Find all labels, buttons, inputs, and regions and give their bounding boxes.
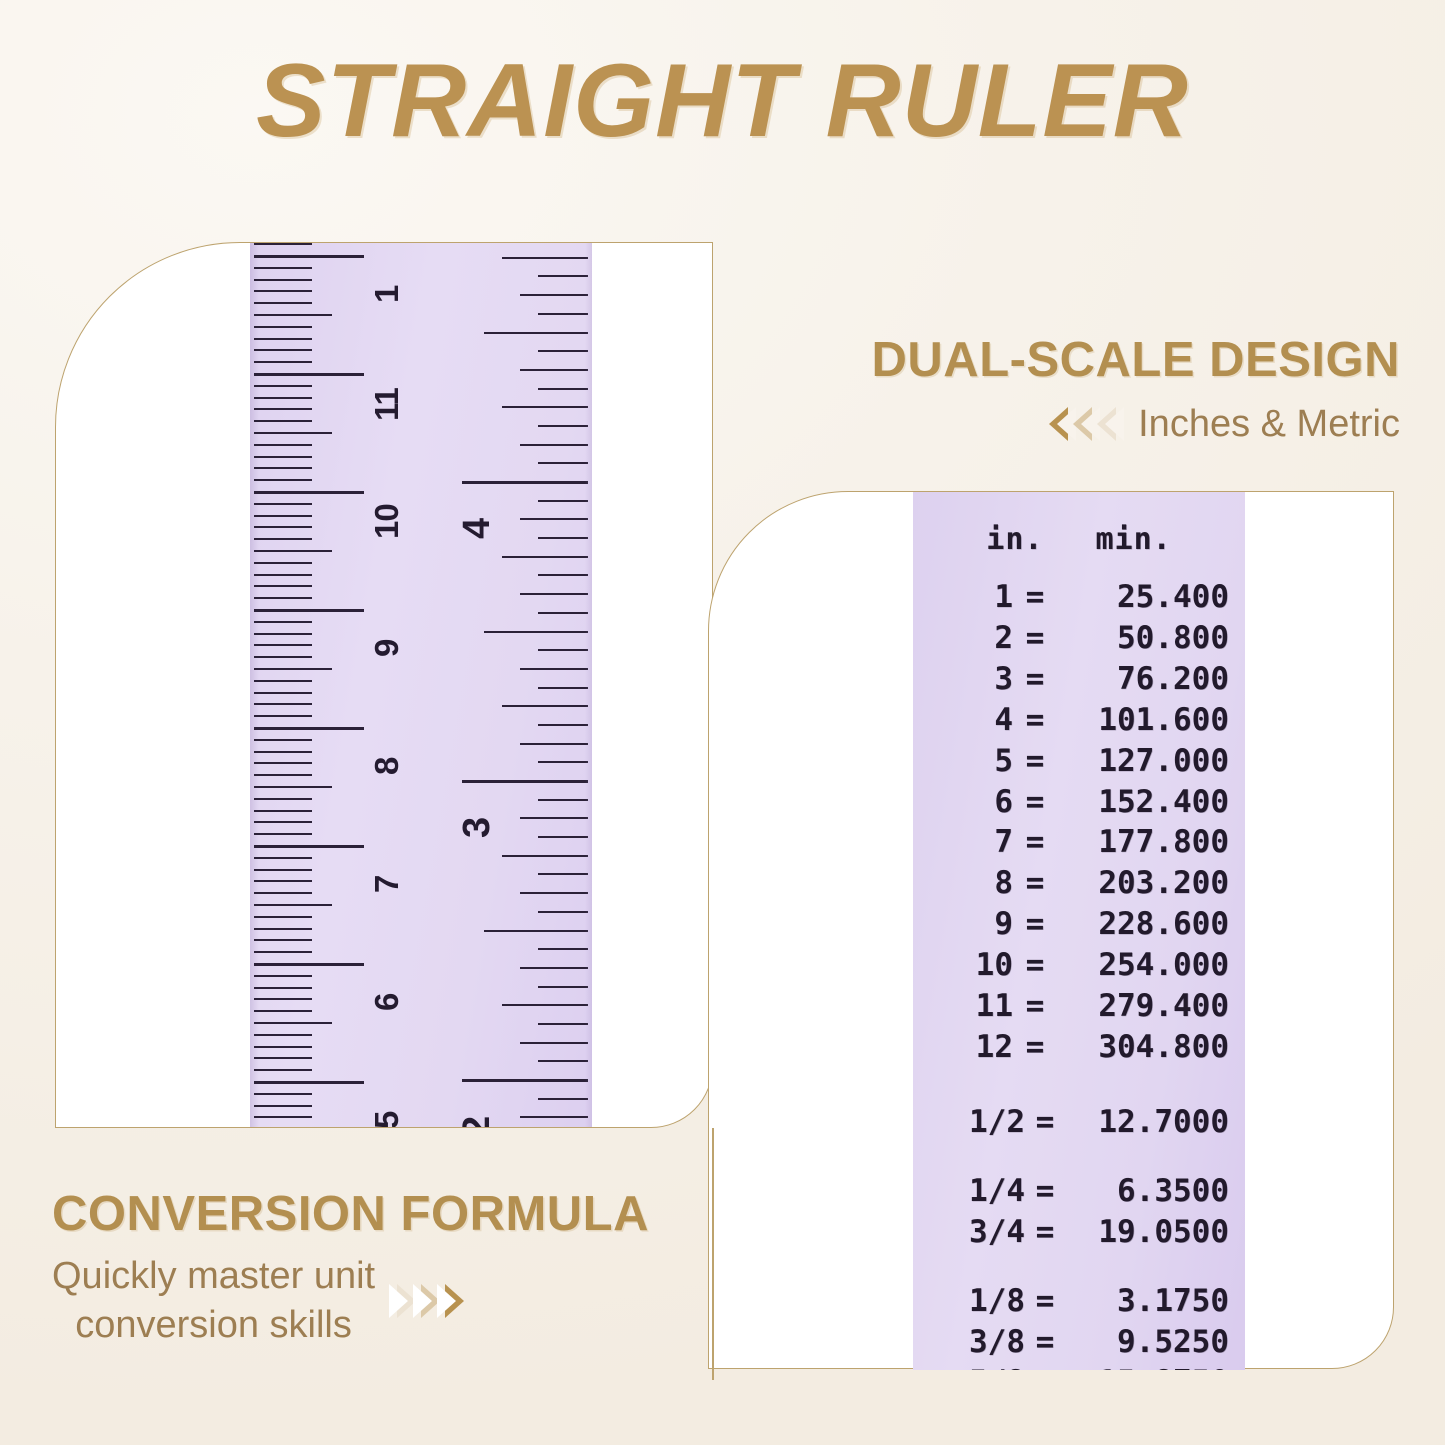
cell-equals: = bbox=[1013, 782, 1057, 823]
ruler-tick-inch bbox=[538, 388, 588, 390]
feature-dual-scale-title: DUAL-SCALE DESIGN bbox=[760, 332, 1400, 388]
ruler-tick-metric bbox=[254, 633, 312, 635]
ruler-tick-metric bbox=[254, 408, 312, 410]
ruler-tick-inch bbox=[538, 948, 588, 950]
ruler-tick-inch bbox=[462, 481, 588, 484]
cell-millimeters: 203.200 bbox=[1057, 863, 1243, 904]
ruler-tick-inch bbox=[502, 556, 588, 558]
ruler-tick-metric bbox=[254, 503, 312, 505]
ruler-tick-metric bbox=[254, 456, 312, 458]
ruler-tick-metric bbox=[254, 916, 312, 918]
feature-dual-scale-subtitle: Inches & Metric bbox=[1138, 400, 1400, 449]
ruler-tick-metric bbox=[254, 585, 312, 587]
cell-inches: 7 bbox=[913, 822, 1013, 863]
cell-inches: 3/8 bbox=[913, 1322, 1025, 1363]
infographic-canvas: STRAIGHT RULER 1111098765432 in. min. 1=… bbox=[0, 0, 1445, 1445]
ruler-tick-inch bbox=[484, 930, 588, 932]
cell-inches: 3 bbox=[913, 659, 1013, 700]
table-row: 5/8=15.8750 bbox=[913, 1362, 1245, 1370]
page-title: STRAIGHT RULER bbox=[0, 48, 1445, 154]
table-group-spacer bbox=[913, 1143, 1245, 1171]
cell-millimeters: 15.8750 bbox=[1065, 1362, 1243, 1370]
cell-equals: = bbox=[1025, 1102, 1065, 1143]
ruler-tick-inch bbox=[538, 1098, 588, 1100]
cell-inches: 5 bbox=[913, 741, 1013, 782]
ruler-tick-inch bbox=[462, 780, 588, 783]
ruler-tick-metric bbox=[254, 538, 312, 540]
cell-equals: = bbox=[1013, 945, 1057, 986]
table-row: 3/8=9.5250 bbox=[913, 1322, 1245, 1363]
ruler-tick-metric bbox=[254, 1116, 312, 1118]
ruler-tick-inch bbox=[538, 612, 588, 614]
feature-conversion-formula: CONVERSION FORMULA Quickly master unit c… bbox=[52, 1186, 712, 1349]
ruler-tick-metric bbox=[254, 243, 312, 245]
ruler-tick-metric bbox=[254, 845, 364, 848]
vertical-divider bbox=[712, 1128, 714, 1380]
ruler-tick-metric bbox=[254, 703, 312, 705]
ruler-tick-metric bbox=[254, 420, 312, 422]
ruler-tick-metric bbox=[254, 609, 364, 612]
table-row: 1/8=3.1750 bbox=[913, 1281, 1245, 1322]
ruler-label-metric: 9 bbox=[368, 640, 406, 657]
cell-equals: = bbox=[1013, 986, 1057, 1027]
feature-conversion-title: CONVERSION FORMULA bbox=[52, 1186, 712, 1242]
ruler-tick-inch bbox=[538, 687, 588, 689]
table-row: 12=304.800 bbox=[913, 1027, 1245, 1068]
ruler-tick-inch bbox=[462, 1079, 588, 1082]
ruler-tick-inch bbox=[538, 1023, 588, 1025]
cell-equals: = bbox=[1013, 700, 1057, 741]
cell-millimeters: 254.000 bbox=[1057, 945, 1243, 986]
ruler-strip: 1111098765432 bbox=[250, 243, 592, 1127]
ruler-tick-inch bbox=[538, 425, 588, 427]
ruler-label-inch: 4 bbox=[456, 519, 499, 539]
ruler-tick-metric bbox=[254, 810, 312, 812]
cell-inches: 8 bbox=[913, 863, 1013, 904]
chevron-left-icon bbox=[1097, 407, 1116, 441]
ruler-tick-inch bbox=[538, 313, 588, 315]
ruler-tick-inch bbox=[538, 574, 588, 576]
table-body: 1=25.4002=50.8003=76.2004=101.6005=127.0… bbox=[913, 577, 1245, 1370]
ruler-tick-inch bbox=[520, 444, 588, 446]
cell-millimeters: 76.200 bbox=[1057, 659, 1243, 700]
cell-equals: = bbox=[1013, 577, 1057, 618]
ruler-tick-metric bbox=[254, 904, 332, 906]
header-millimeters: min. bbox=[1095, 522, 1171, 557]
cell-inches: 1/2 bbox=[913, 1102, 1025, 1143]
cell-inches: 2 bbox=[913, 618, 1013, 659]
ruler-tick-inch bbox=[538, 1060, 588, 1062]
ruler-tick-metric bbox=[254, 821, 312, 823]
feature-conversion-subtitle-line2: conversion skills bbox=[52, 1301, 375, 1350]
cell-millimeters: 6.3500 bbox=[1065, 1171, 1243, 1212]
ruler-tick-inch bbox=[538, 761, 588, 763]
cell-inches: 3/4 bbox=[913, 1212, 1025, 1253]
ruler-label-metric: 8 bbox=[368, 758, 406, 775]
ruler-tick-inch bbox=[502, 1004, 588, 1006]
ruler-tick-metric bbox=[254, 1105, 312, 1107]
table-header: in. min. bbox=[913, 522, 1245, 557]
ruler-tick-inch bbox=[502, 855, 588, 857]
ruler-tick-metric bbox=[254, 479, 312, 481]
ruler-tick-metric bbox=[254, 432, 332, 434]
cell-equals: = bbox=[1013, 904, 1057, 945]
ruler-tick-metric bbox=[254, 751, 312, 753]
ruler-label-metric: 1 bbox=[368, 286, 406, 303]
ruler-tick-inch bbox=[502, 406, 588, 408]
cell-millimeters: 177.800 bbox=[1057, 822, 1243, 863]
ruler-tick-metric bbox=[254, 975, 312, 977]
ruler-tick-metric bbox=[254, 267, 312, 269]
ruler-tick-metric bbox=[254, 574, 312, 576]
ruler-tick-metric bbox=[254, 621, 312, 623]
ruler-tick-inch bbox=[520, 369, 588, 371]
cell-equals: = bbox=[1013, 618, 1057, 659]
ruler-tick-metric bbox=[254, 302, 312, 304]
ruler-tick-metric bbox=[254, 279, 312, 281]
ruler-tick-metric bbox=[254, 326, 312, 328]
ruler-tick-metric bbox=[254, 1069, 312, 1071]
table-row: 3=76.200 bbox=[913, 659, 1245, 700]
ruler-tick-inch bbox=[520, 817, 588, 819]
ruler-tick-inch bbox=[520, 518, 588, 520]
cell-inches: 6 bbox=[913, 782, 1013, 823]
ruler-tick-metric bbox=[254, 786, 332, 788]
ruler-tick-metric bbox=[254, 467, 312, 469]
conversion-table-strip: in. min. 1=25.4002=50.8003=76.2004=101.6… bbox=[913, 492, 1245, 1370]
ruler-tick-metric bbox=[254, 397, 312, 399]
table-row: 6=152.400 bbox=[913, 782, 1245, 823]
cell-millimeters: 50.800 bbox=[1057, 618, 1243, 659]
ruler-tick-metric bbox=[254, 833, 312, 835]
ruler-tick-inch bbox=[520, 294, 588, 296]
ruler-tick-inch bbox=[538, 500, 588, 502]
ruler-tick-inch bbox=[538, 873, 588, 875]
ruler-tick-metric bbox=[254, 290, 312, 292]
ruler-tick-inch bbox=[538, 649, 588, 651]
ruler-tick-metric bbox=[254, 928, 312, 930]
ruler-tick-inch bbox=[538, 836, 588, 838]
ruler-tick-metric bbox=[254, 680, 312, 682]
cell-inches: 1/8 bbox=[913, 1281, 1025, 1322]
chevron-right-icon bbox=[445, 1284, 464, 1318]
ruler-tick-inch bbox=[538, 986, 588, 988]
ruler-tick-metric bbox=[254, 444, 312, 446]
table-row: 11=279.400 bbox=[913, 986, 1245, 1027]
cell-millimeters: 152.400 bbox=[1057, 782, 1243, 823]
cell-inches: 1 bbox=[913, 577, 1013, 618]
ruler-tick-metric bbox=[254, 951, 312, 953]
table-row: 1=25.400 bbox=[913, 577, 1245, 618]
ruler-label-metric: 7 bbox=[368, 876, 406, 893]
ruler-label-metric: 5 bbox=[368, 1112, 406, 1127]
cell-millimeters: 19.0500 bbox=[1065, 1212, 1243, 1253]
cell-inches: 11 bbox=[913, 986, 1013, 1027]
header-inches: in. bbox=[986, 522, 1043, 557]
cell-millimeters: 9.5250 bbox=[1065, 1322, 1243, 1363]
conversion-table-card: in. min. 1=25.4002=50.8003=76.2004=101.6… bbox=[708, 491, 1394, 1369]
cell-equals: = bbox=[1013, 741, 1057, 782]
table-row: 3/4=19.0500 bbox=[913, 1212, 1245, 1253]
ruler-tick-inch bbox=[520, 967, 588, 969]
ruler-tick-metric bbox=[254, 550, 332, 552]
ruler-tick-metric bbox=[254, 798, 312, 800]
ruler-tick-metric bbox=[254, 939, 312, 941]
table-group-spacer bbox=[913, 1068, 1245, 1102]
table-row: 10=254.000 bbox=[913, 945, 1245, 986]
cell-equals: = bbox=[1013, 822, 1057, 863]
cell-equals: = bbox=[1025, 1281, 1065, 1322]
cell-millimeters: 25.400 bbox=[1057, 577, 1243, 618]
ruler-tick-inch bbox=[520, 892, 588, 894]
ruler-tick-metric bbox=[254, 963, 364, 966]
ruler-tick-inch bbox=[484, 332, 588, 334]
ruler-tick-inch bbox=[538, 911, 588, 913]
ruler-tick-inch bbox=[502, 705, 588, 707]
ruler-tick-inch bbox=[538, 799, 588, 801]
chevron-right-group bbox=[397, 1284, 464, 1318]
table-row: 1/4=6.3500 bbox=[913, 1171, 1245, 1212]
ruler-tick-metric bbox=[254, 314, 332, 316]
cell-millimeters: 279.400 bbox=[1057, 986, 1243, 1027]
ruler-photo-clip: 1111098765432 bbox=[56, 243, 712, 1127]
cell-millimeters: 304.800 bbox=[1057, 1027, 1243, 1068]
ruler-tick-metric bbox=[254, 644, 312, 646]
ruler-tick-inch bbox=[538, 275, 588, 277]
ruler-label-metric: 6 bbox=[368, 994, 406, 1011]
ruler-tick-metric bbox=[254, 869, 312, 871]
ruler-tick-inch bbox=[520, 1042, 588, 1044]
ruler-photo-card: 1111098765432 bbox=[55, 242, 713, 1128]
ruler-tick-metric bbox=[254, 491, 364, 494]
feature-dual-scale: DUAL-SCALE DESIGN Inches & Metric bbox=[760, 332, 1400, 449]
chevron-left-icon bbox=[1049, 407, 1068, 441]
cell-inches: 12 bbox=[913, 1027, 1013, 1068]
conversion-table: in. min. 1=25.4002=50.8003=76.2004=101.6… bbox=[913, 514, 1245, 1370]
cell-inches: 5/8 bbox=[913, 1362, 1025, 1370]
table-row: 4=101.600 bbox=[913, 700, 1245, 741]
cell-inches: 9 bbox=[913, 904, 1013, 945]
table-row: 9=228.600 bbox=[913, 904, 1245, 945]
ruler-tick-inch bbox=[520, 668, 588, 670]
ruler-label-metric: 10 bbox=[368, 504, 406, 539]
cell-millimeters: 12.7000 bbox=[1065, 1102, 1243, 1143]
ruler-tick-inch bbox=[520, 743, 588, 745]
ruler-tick-metric bbox=[254, 385, 312, 387]
ruler-tick-metric bbox=[254, 668, 332, 670]
ruler-tick-metric bbox=[254, 597, 312, 599]
ruler-tick-metric bbox=[254, 998, 312, 1000]
table-group-spacer bbox=[913, 1253, 1245, 1281]
cell-inches: 10 bbox=[913, 945, 1013, 986]
cell-equals: = bbox=[1013, 659, 1057, 700]
ruler-tick-metric bbox=[254, 349, 312, 351]
ruler-tick-inch bbox=[538, 462, 588, 464]
ruler-tick-metric bbox=[254, 857, 312, 859]
table-row: 5=127.000 bbox=[913, 741, 1245, 782]
chevron-left-group bbox=[1049, 407, 1116, 441]
ruler-tick-metric bbox=[254, 774, 312, 776]
ruler-tick-inch bbox=[502, 257, 588, 259]
ruler-tick-metric bbox=[254, 361, 312, 363]
ruler-tick-metric bbox=[254, 987, 312, 989]
ruler-tick-inch bbox=[538, 537, 588, 539]
ruler-tick-metric bbox=[254, 255, 364, 258]
ruler-tick-metric bbox=[254, 526, 312, 528]
ruler-tick-metric bbox=[254, 562, 312, 564]
cell-equals: = bbox=[1013, 1027, 1057, 1068]
ruler-tick-inch bbox=[520, 593, 588, 595]
cell-equals: = bbox=[1025, 1171, 1065, 1212]
ruler-tick-metric bbox=[254, 715, 312, 717]
ruler-label-metric: 11 bbox=[368, 388, 406, 421]
cell-equals: = bbox=[1025, 1362, 1065, 1370]
table-row: 8=203.200 bbox=[913, 863, 1245, 904]
ruler-tick-metric bbox=[254, 892, 312, 894]
ruler-tick-metric bbox=[254, 762, 312, 764]
table-row: 2=50.800 bbox=[913, 618, 1245, 659]
ruler-tick-metric bbox=[254, 1093, 312, 1095]
table-row: 1/2=12.7000 bbox=[913, 1102, 1245, 1143]
table-row: 7=177.800 bbox=[913, 822, 1245, 863]
ruler-tick-inch bbox=[520, 1116, 588, 1118]
ruler-tick-metric bbox=[254, 1022, 332, 1024]
ruler-label-inch: 3 bbox=[456, 818, 499, 838]
cell-millimeters: 127.000 bbox=[1057, 741, 1243, 782]
ruler-tick-metric bbox=[254, 692, 312, 694]
ruler-tick-metric bbox=[254, 880, 312, 882]
ruler-tick-inch bbox=[538, 724, 588, 726]
cell-inches: 4 bbox=[913, 700, 1013, 741]
cell-millimeters: 101.600 bbox=[1057, 700, 1243, 741]
feature-conversion-subtitle-line1: Quickly master unit bbox=[52, 1252, 375, 1301]
ruler-label-inch: 2 bbox=[456, 1117, 499, 1127]
ruler-tick-metric bbox=[254, 1010, 312, 1012]
cell-millimeters: 228.600 bbox=[1057, 904, 1243, 945]
ruler-tick-metric bbox=[254, 1034, 312, 1036]
ruler-tick-metric bbox=[254, 727, 364, 730]
chevron-left-icon bbox=[1073, 407, 1092, 441]
feature-conversion-subtitle: Quickly master unit conversion skills bbox=[52, 1252, 375, 1349]
cell-inches: 1/4 bbox=[913, 1171, 1025, 1212]
ruler-tick-metric bbox=[254, 1057, 312, 1059]
cell-equals: = bbox=[1025, 1322, 1065, 1363]
ruler-tick-metric bbox=[254, 656, 312, 658]
cell-millimeters: 3.1750 bbox=[1065, 1281, 1243, 1322]
cell-equals: = bbox=[1013, 863, 1057, 904]
ruler-tick-metric bbox=[254, 739, 312, 741]
ruler-tick-metric bbox=[254, 1046, 312, 1048]
ruler-tick-metric bbox=[254, 338, 312, 340]
ruler-tick-metric bbox=[254, 515, 312, 517]
ruler-tick-metric bbox=[254, 373, 364, 376]
ruler-tick-inch bbox=[484, 631, 588, 633]
ruler-tick-metric bbox=[254, 1081, 364, 1084]
cell-equals: = bbox=[1025, 1212, 1065, 1253]
ruler-tick-inch bbox=[538, 350, 588, 352]
